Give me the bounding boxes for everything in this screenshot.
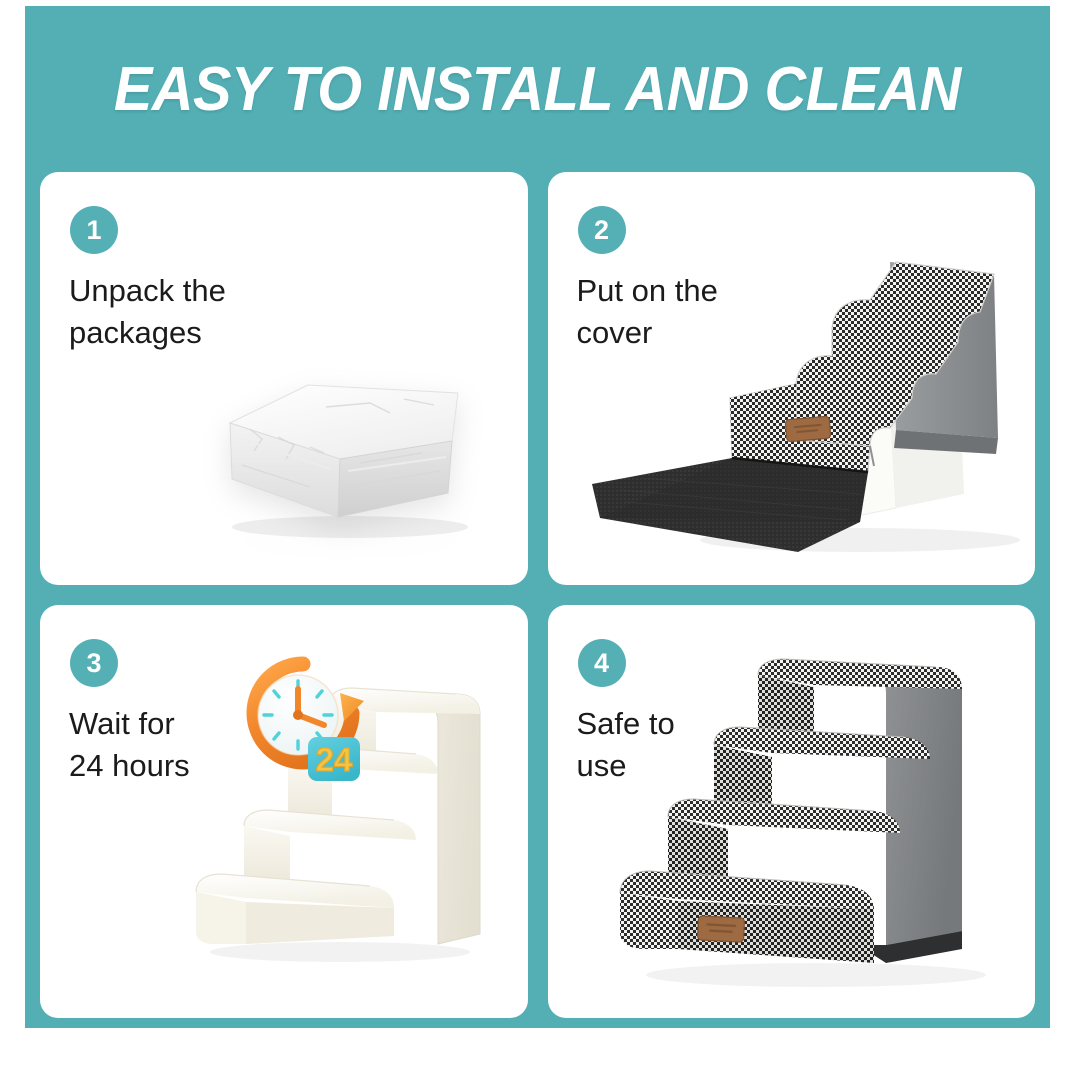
step-label-4: Safe to use xyxy=(577,703,817,787)
step-card-3[interactable]: 24 3 Wait for 24 hours xyxy=(40,605,528,1018)
leather-tag xyxy=(697,916,744,942)
page-title: EASY TO INSTALL AND CLEAN xyxy=(114,54,961,125)
hours-badge-text: 24 xyxy=(316,741,353,778)
step-number-badge-2: 2 xyxy=(578,206,626,254)
step-number-badge-4: 4 xyxy=(578,639,626,687)
header-banner: EASY TO INSTALL AND CLEAN xyxy=(25,6,1050,172)
finished-pet-stairs-icon xyxy=(606,645,1006,995)
infographic-panel: EASY TO INSTALL AND CLEAN xyxy=(25,6,1050,1028)
step-card-2[interactable]: 2 Put on the cover xyxy=(548,172,1036,585)
hours-badge: 24 xyxy=(308,737,360,781)
step-label-3: Wait for 24 hours xyxy=(69,703,309,787)
step-card-1[interactable]: 1 Unpack the packages xyxy=(40,172,528,585)
step-number-badge-3: 3 xyxy=(70,639,118,687)
step-label-2: Put on the cover xyxy=(577,270,817,354)
leather-tag xyxy=(785,416,831,442)
step-card-4[interactable]: 4 Safe to use xyxy=(548,605,1036,1018)
compressed-foam-package-icon xyxy=(190,367,500,542)
step-label-1: Unpack the packages xyxy=(69,270,309,354)
step-number-badge-1: 1 xyxy=(70,206,118,254)
steps-grid: 1 Unpack the packages xyxy=(40,172,1035,1018)
